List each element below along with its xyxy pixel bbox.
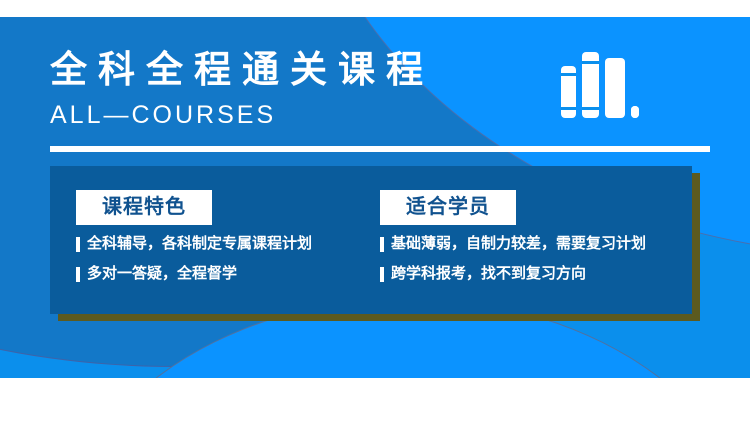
bullet-list-suitable-students: 基础薄弱，自制力较差，需要复习计划 跨学科报考，找不到复习方向 — [380, 236, 680, 282]
list-item: 基础薄弱，自制力较差，需要复习计划 — [380, 236, 680, 252]
bullet-marker-icon — [76, 267, 80, 282]
course-promo-banner: 全科全程通关课程 ALL—COURSES 课程特色 全科辅导，各科制定专属课程计… — [0, 0, 750, 424]
list-item-label: 多对一答疑，全程督学 — [87, 266, 237, 282]
column-suitable-students: 适合学员 基础薄弱，自制力较差，需要复习计划 跨学科报考，找不到复习方向 — [380, 166, 680, 296]
banner-subtitle: ALL—COURSES — [50, 100, 276, 130]
book-bar-3 — [605, 58, 625, 118]
heading-chip-suitable-students: 适合学员 — [380, 190, 516, 225]
book-band-2a — [582, 61, 599, 64]
heading-chip-course-features: 课程特色 — [76, 190, 212, 225]
banner-title: 全科全程通关课程 — [50, 48, 434, 92]
book-band-2b — [582, 107, 599, 110]
book-bar-4-bottom — [631, 106, 639, 118]
bullet-marker-icon — [380, 237, 384, 252]
bullet-marker-icon — [76, 237, 80, 252]
content-panel: 课程特色 全科辅导，各科制定专属课程计划 多对一答疑，全程督学 适合学员 基础薄… — [50, 166, 692, 314]
list-item: 多对一答疑，全程督学 — [76, 266, 376, 282]
bullet-marker-icon — [380, 267, 384, 282]
list-item-label: 跨学科报考，找不到复习方向 — [391, 266, 586, 282]
bullet-list-course-features: 全科辅导，各科制定专属课程计划 多对一答疑，全程督学 — [76, 236, 376, 282]
list-item: 跨学科报考，找不到复习方向 — [380, 266, 680, 282]
title-divider — [50, 146, 710, 152]
list-item-label: 全科辅导，各科制定专属课程计划 — [87, 236, 312, 252]
list-item-label: 基础薄弱，自制力较差，需要复习计划 — [391, 236, 646, 252]
book-band-1b — [561, 107, 576, 110]
book-band-1a — [561, 73, 576, 76]
list-item: 全科辅导，各科制定专属课程计划 — [76, 236, 376, 252]
column-course-features: 课程特色 全科辅导，各科制定专属课程计划 多对一答疑，全程督学 — [76, 166, 376, 296]
books-icon — [561, 44, 639, 118]
